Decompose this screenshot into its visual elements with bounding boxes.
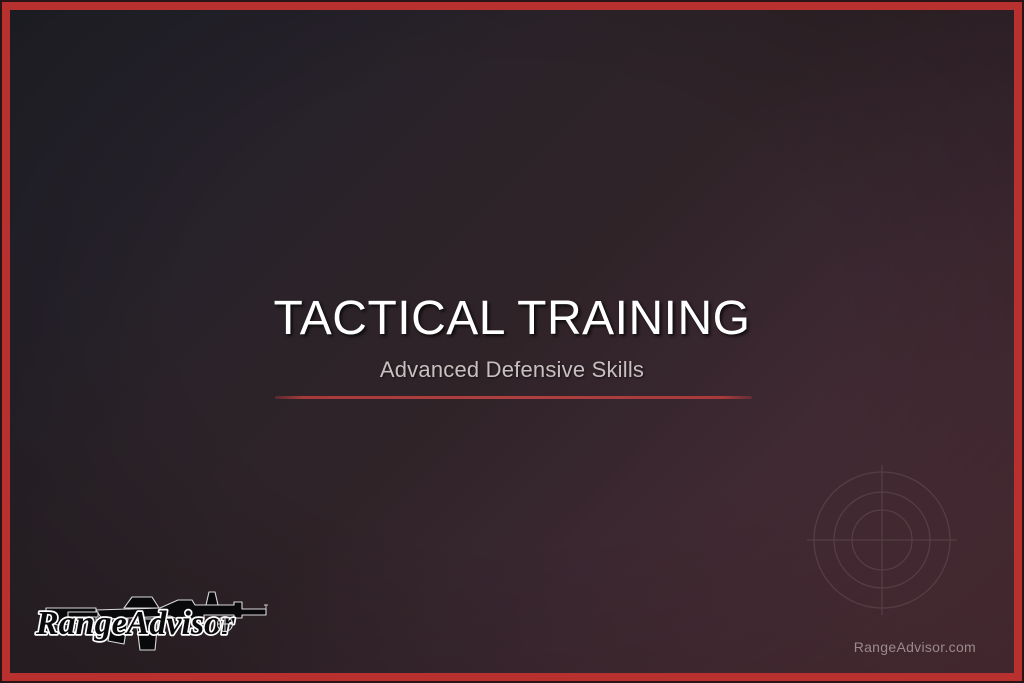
brand-logo: RangeAdvisor RangeAdvisor [28, 578, 280, 666]
page-subtitle: Advanced Defensive Skills [10, 357, 1014, 383]
scope-reticle-icon [218, 617, 233, 632]
page-title: TACTICAL TRAINING [10, 293, 1014, 345]
brand-wordmark: RangeAdvisor RangeAdvisor [35, 605, 235, 642]
title-accent-divider [275, 396, 752, 399]
title-block: TACTICAL TRAINING Advanced Defensive Ski… [10, 293, 1014, 383]
presentation-slide: TACTICAL TRAINING Advanced Defensive Ski… [0, 0, 1024, 683]
brand-wordmark-fill: RangeAdvisor [35, 605, 235, 642]
trademark-mark [264, 605, 268, 609]
slide-canvas: TACTICAL TRAINING Advanced Defensive Ski… [10, 10, 1014, 673]
crosshair-target-icon [798, 456, 966, 624]
footer-url: RangeAdvisor.com [854, 639, 976, 655]
